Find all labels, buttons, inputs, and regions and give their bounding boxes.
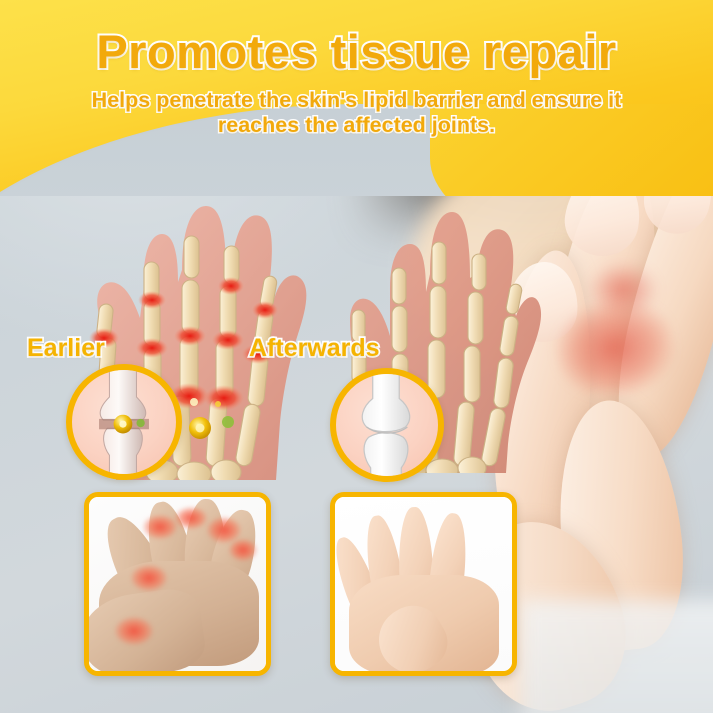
photo-inflamed-joint-1 <box>143 515 177 539</box>
photo-inflamed-joint-4 <box>131 565 167 591</box>
photo-inflamed-joint-5 <box>115 617 153 645</box>
healthy-hand-photo <box>335 497 512 671</box>
background-white-sleeve <box>520 600 713 713</box>
header-band: Promotes tissue repair Helps penetrate t… <box>0 0 713 196</box>
arthritic-hands-photo-card <box>84 492 271 676</box>
promo-banner: Promotes tissue repair Helps penetrate t… <box>0 0 713 713</box>
page-subtitle: Helps penetrate the skin's lipid barrier… <box>60 88 653 138</box>
joint-after-inset <box>330 368 444 482</box>
photo-inflamed-joint-6 <box>229 539 257 561</box>
background-inflammation-patch <box>549 290 682 405</box>
label-earlier: Earlier <box>27 334 105 363</box>
photo-inflamed-joint-2 <box>175 507 207 529</box>
photo-inflamed-joint-3 <box>207 517 241 543</box>
joint-before-inset <box>66 364 182 480</box>
page-title: Promotes tissue repair <box>0 24 713 79</box>
healthy-hand-photo-card <box>330 492 517 676</box>
arthritic-hands-photo <box>89 497 266 671</box>
label-afterwards: Afterwards <box>249 334 380 363</box>
